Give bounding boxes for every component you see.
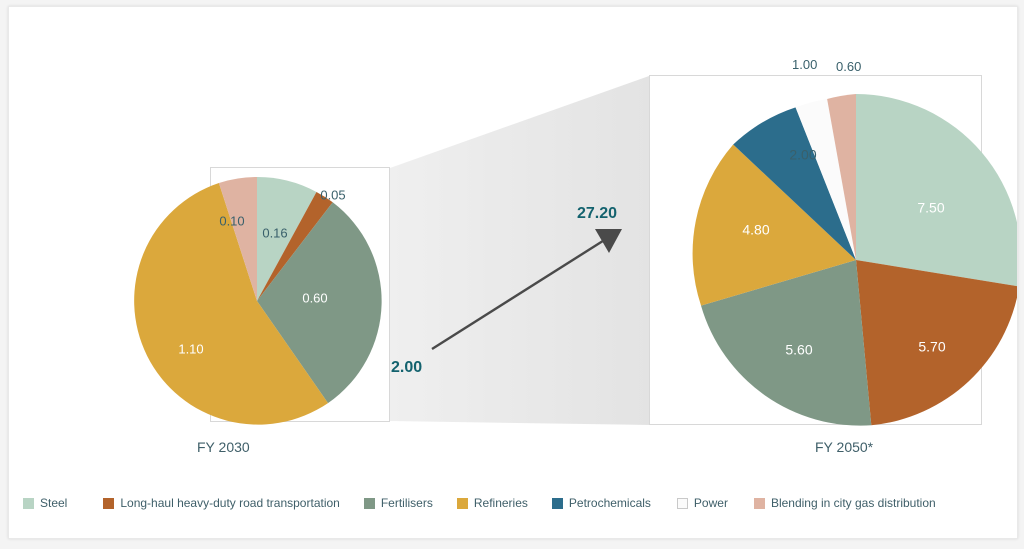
legend-item-fertilisers[interactable]: Fertilisers — [364, 496, 433, 510]
growth-arrow-head — [595, 229, 622, 253]
pie-label-petrochemicals: 2.00 — [789, 147, 816, 163]
legend-swatch-icon — [23, 498, 34, 509]
legend-swatch-icon — [754, 498, 765, 509]
legend-item-refineries[interactable]: Refineries — [457, 496, 528, 510]
legend-label: Fertilisers — [381, 496, 433, 510]
legend-label: Steel — [40, 496, 67, 510]
growth-end-value: 27.20 — [577, 205, 617, 223]
legend-item-power[interactable]: Power — [677, 496, 728, 510]
growth-arrow-line — [432, 239, 606, 349]
pie-label-long-haul: 5.70 — [918, 339, 945, 355]
legend-swatch-icon — [552, 498, 563, 509]
legend-label: Long-haul heavy-duty road transportation — [120, 496, 339, 510]
legend-swatch-icon — [103, 498, 114, 509]
legend-label: Petrochemicals — [569, 496, 651, 510]
pie-label-long-haul: 0.05 — [320, 187, 345, 202]
pie-label-fertilisers: 5.60 — [785, 342, 812, 358]
right-pie-caption: FY 2050* — [815, 439, 873, 455]
pie-label-fertilisers: 0.60 — [302, 290, 327, 305]
pie-label-refineries: 4.80 — [742, 222, 769, 238]
legend-swatch-icon — [457, 498, 468, 509]
legend-swatch-icon — [364, 498, 375, 509]
legend-item-long-haul-heavy-duty-road-transportation[interactable]: Long-haul heavy-duty road transportation — [103, 496, 339, 510]
pie-label-refineries: 1.10 — [178, 341, 203, 356]
pie-label-blending: 0.10 — [219, 213, 244, 228]
pie-label-power: 1.00 — [792, 57, 817, 72]
legend-item-petrochemicals[interactable]: Petrochemicals — [552, 496, 651, 510]
chart-legend: Steel Long-haul heavy-duty road transpor… — [9, 483, 1017, 523]
growth-start-value: 2.00 — [391, 359, 422, 377]
legend-label: Power — [694, 496, 728, 510]
chart-canvas: 0.16 0.05 0.60 1.10 0.10 FY 2030 7.50 — [8, 6, 1018, 539]
pie-label-steel: 0.16 — [262, 225, 287, 240]
legend-item-steel[interactable]: Steel — [23, 496, 67, 510]
left-pie-caption: FY 2030 — [197, 439, 250, 455]
pie-slice-steel[interactable] — [856, 94, 1018, 286]
connector-polygon — [390, 76, 649, 425]
legend-item-blending-in-city-gas-distribution[interactable]: Blending in city gas distribution — [754, 496, 936, 510]
pie-label-blending: 0.60 — [836, 59, 861, 74]
pie-chart-fy2030[interactable]: 0.16 0.05 0.60 1.10 0.10 — [125, 169, 389, 433]
pie-label-steel: 7.50 — [917, 200, 944, 216]
pie-chart-fy2050[interactable]: 7.50 5.70 5.60 4.80 2.00 — [681, 85, 1018, 435]
legend-swatch-icon — [677, 498, 688, 509]
legend-label: Blending in city gas distribution — [771, 496, 936, 510]
legend-label: Refineries — [474, 496, 528, 510]
